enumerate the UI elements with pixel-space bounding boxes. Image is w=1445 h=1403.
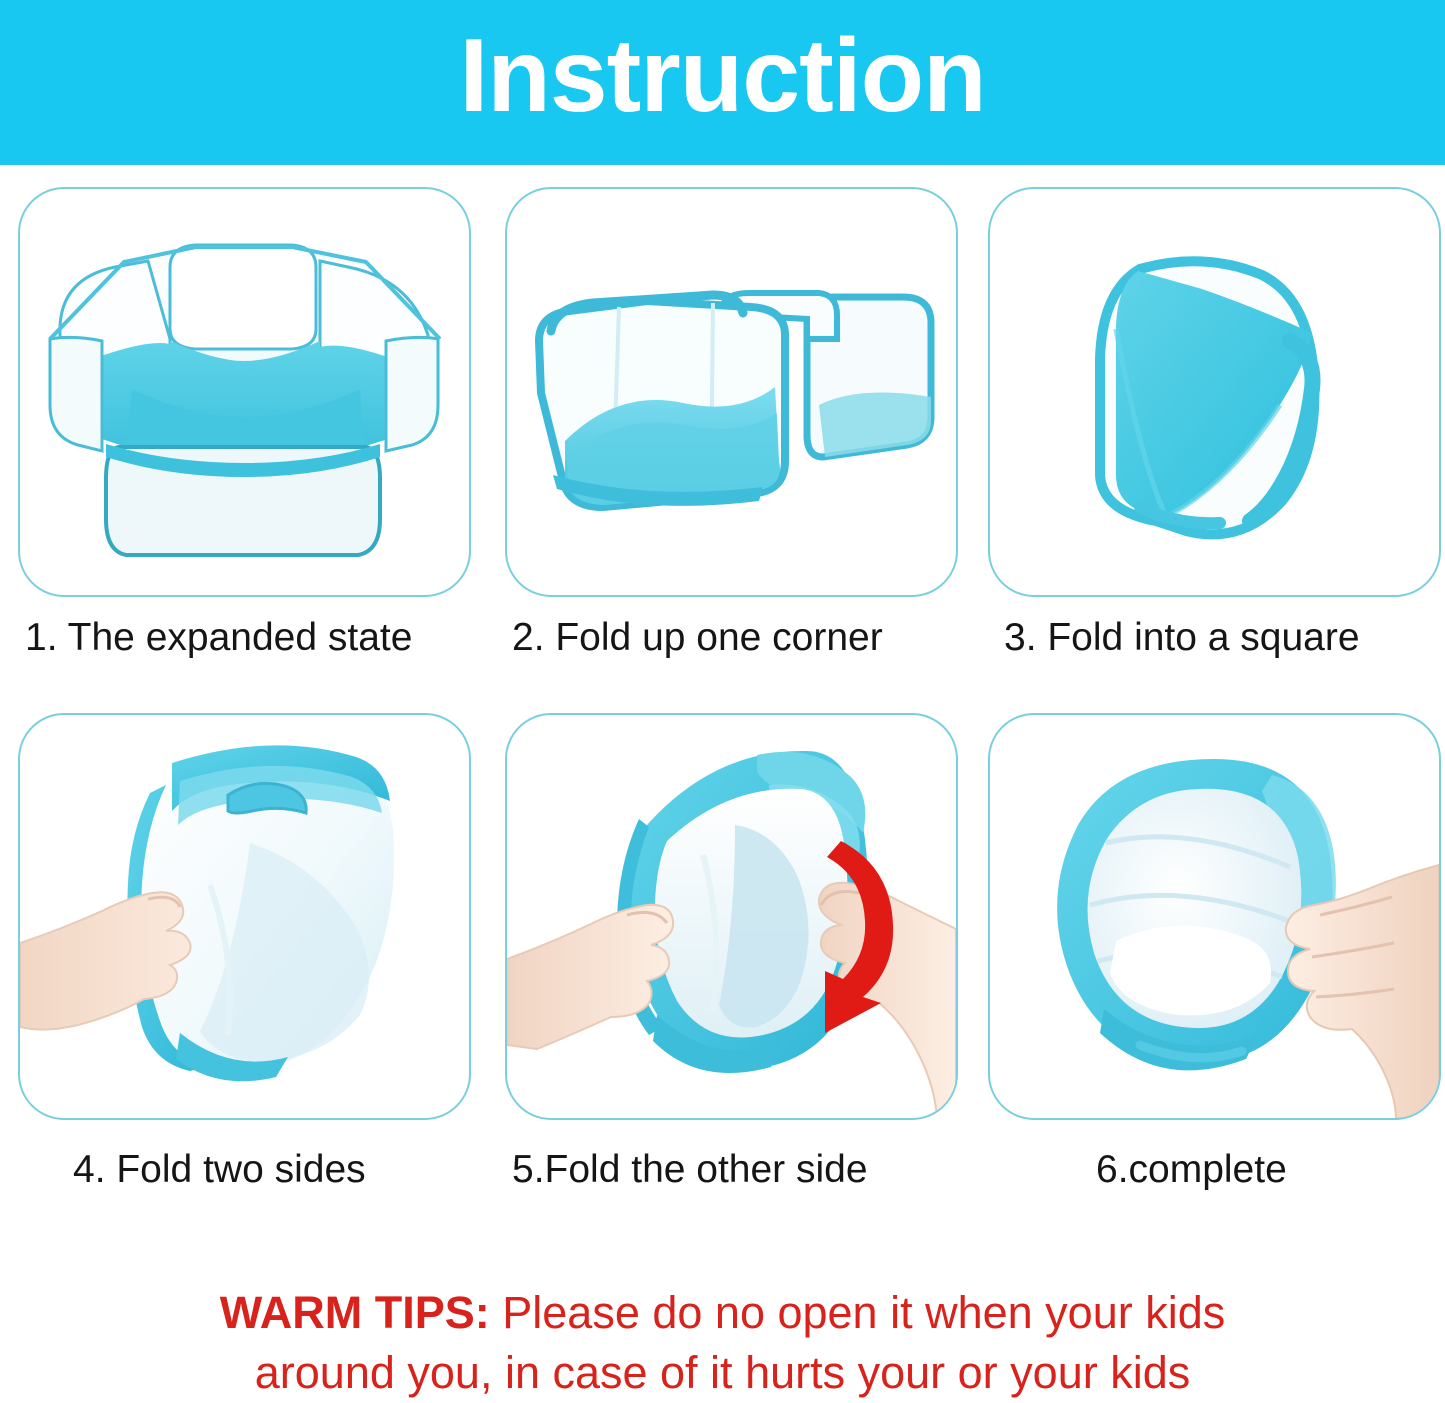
warning-text-2: around you, in case of it hurts your or … [0, 1343, 1445, 1403]
step-caption-3: 3. Fold into a square [1004, 618, 1360, 657]
step-caption-2: 2. Fold up one corner [512, 618, 883, 657]
step-card-4 [18, 713, 471, 1120]
warning-block: WARM TIPS: Please do no open it when you… [0, 1283, 1445, 1403]
step-caption-6: 6.complete [1096, 1150, 1287, 1189]
playpen-expanded-hexagon-icon [20, 189, 469, 595]
warning-line-1: WARM TIPS: Please do no open it when you… [0, 1283, 1445, 1343]
playpen-complete-bundle-hand-icon [990, 715, 1439, 1118]
step-card-5 [505, 713, 958, 1120]
step-card-3 [988, 187, 1441, 597]
playpen-one-corner-folded-icon [507, 189, 956, 595]
step-caption-1: 1. The expanded state [25, 618, 412, 657]
warning-label: WARM TIPS: [220, 1287, 490, 1338]
step-card-1 [18, 187, 471, 597]
playpen-fold-other-side-hands-arrow-icon [507, 715, 956, 1118]
playpen-fold-two-sides-hand-icon [20, 715, 469, 1118]
step-caption-5: 5.Fold the other side [512, 1150, 868, 1189]
step-card-6 [988, 713, 1441, 1120]
step-card-2 [505, 187, 958, 597]
playpen-folded-square-icon [990, 189, 1439, 595]
step-caption-4: 4. Fold two sides [73, 1150, 366, 1189]
warning-text-1: Please do no open it when your kids [502, 1287, 1225, 1338]
steps-grid: 1. The expanded state 2. Fold up one cor… [0, 0, 1445, 1401]
